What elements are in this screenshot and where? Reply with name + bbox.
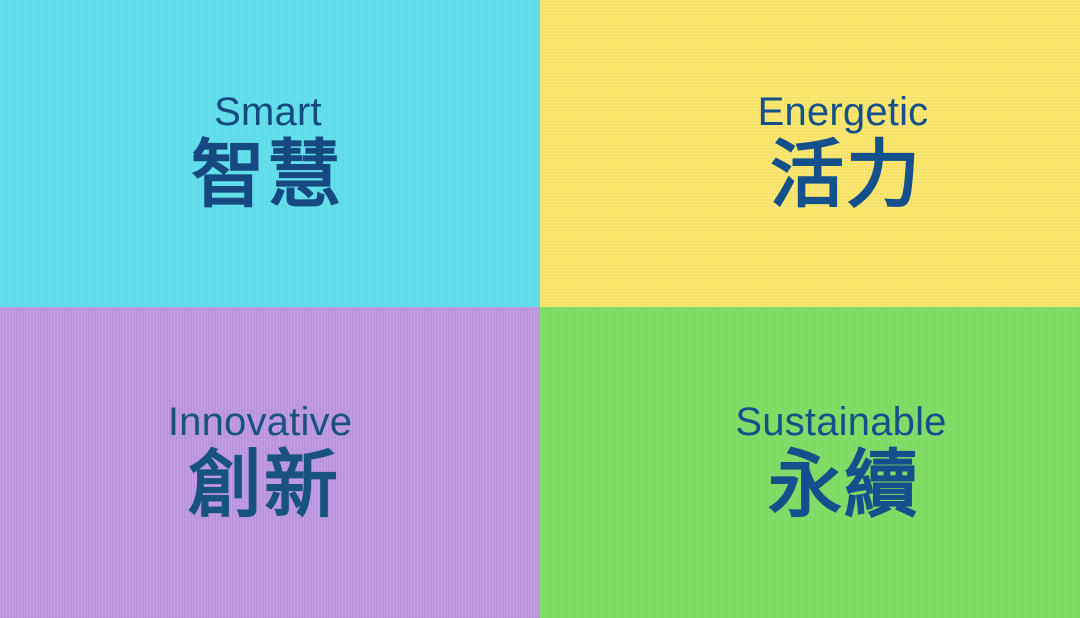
label-en-sustainable: Sustainable	[735, 402, 946, 442]
label-en-innovative: Innovative	[168, 402, 352, 442]
label-en-energetic: Energetic	[758, 92, 929, 132]
label-zh-sustainable: 永續	[768, 448, 920, 522]
label-stack-sustainable: Sustainable 永續	[738, 402, 949, 522]
label-stack-energetic: Energetic 活力	[761, 92, 932, 212]
label-zh-energetic: 活力	[770, 138, 922, 212]
quadrant-innovative[interactable]: Innovative 創新	[0, 307, 540, 618]
label-zh-smart: 智慧	[191, 138, 343, 212]
quadrant-grid: Smart 智慧 Energetic 活力 Innovative 創新 Sust…	[0, 0, 1080, 618]
label-en-smart: Smart	[214, 92, 322, 132]
quadrant-energetic[interactable]: Energetic 活力	[540, 0, 1080, 307]
label-zh-innovative: 創新	[188, 448, 340, 522]
brand-values-canvas: Smart 智慧 Energetic 活力 Innovative 創新 Sust…	[0, 0, 1080, 618]
quadrant-smart[interactable]: Smart 智慧	[0, 0, 540, 307]
label-stack-innovative: Innovative 創新	[172, 402, 356, 522]
quadrant-sustainable[interactable]: Sustainable 永續	[540, 307, 1080, 618]
label-stack-smart: Smart 智慧	[191, 92, 343, 212]
